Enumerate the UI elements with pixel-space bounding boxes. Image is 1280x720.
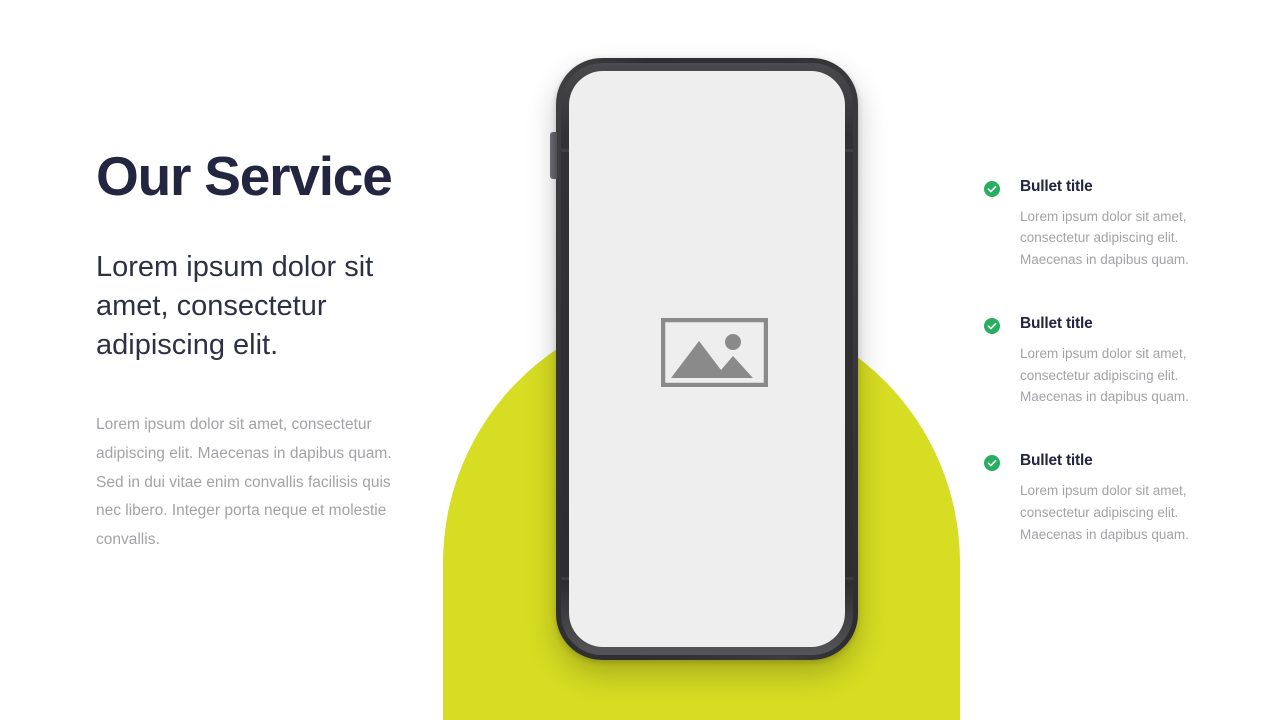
phone-antenna-line-top	[561, 149, 853, 152]
left-text-column: Our Service Lorem ipsum dolor sit amet, …	[96, 148, 426, 555]
slide-canvas: Our Service Lorem ipsum dolor sit amet, …	[0, 0, 1280, 720]
slide-subtitle: Lorem ipsum dolor sit amet, consectetur …	[96, 248, 421, 365]
phone-frame-inner-ring	[561, 63, 853, 655]
check-circle-icon	[984, 318, 1000, 334]
check-circle-icon	[984, 455, 1000, 471]
check-circle-icon	[984, 181, 1000, 197]
phone-antenna-line-bottom	[561, 577, 853, 580]
page-title: Our Service	[96, 148, 426, 206]
bullet-item[interactable]: Bullet title Lorem ipsum dolor sit amet,…	[984, 452, 1214, 545]
image-placeholder-icon	[661, 318, 768, 387]
bullet-item[interactable]: Bullet title Lorem ipsum dolor sit amet,…	[984, 315, 1214, 408]
arch-background-shape	[443, 305, 960, 720]
slide-body-text: Lorem ipsum dolor sit amet, consectetur …	[96, 411, 406, 554]
phone-screen	[569, 71, 845, 647]
bullet-list: Bullet title Lorem ipsum dolor sit amet,…	[984, 178, 1214, 546]
bullet-description: Lorem ipsum dolor sit amet, consectetur …	[1020, 206, 1214, 272]
bullet-title: Bullet title	[1020, 178, 1214, 197]
bullet-item[interactable]: Bullet title Lorem ipsum dolor sit amet,…	[984, 178, 1214, 271]
phone-side-button-icon	[550, 132, 557, 179]
phone-mockup	[556, 58, 858, 660]
bullet-description: Lorem ipsum dolor sit amet, consectetur …	[1020, 343, 1214, 409]
bullet-description: Lorem ipsum dolor sit amet, consectetur …	[1020, 480, 1214, 546]
bullet-title: Bullet title	[1020, 452, 1214, 471]
bullet-title: Bullet title	[1020, 315, 1214, 334]
